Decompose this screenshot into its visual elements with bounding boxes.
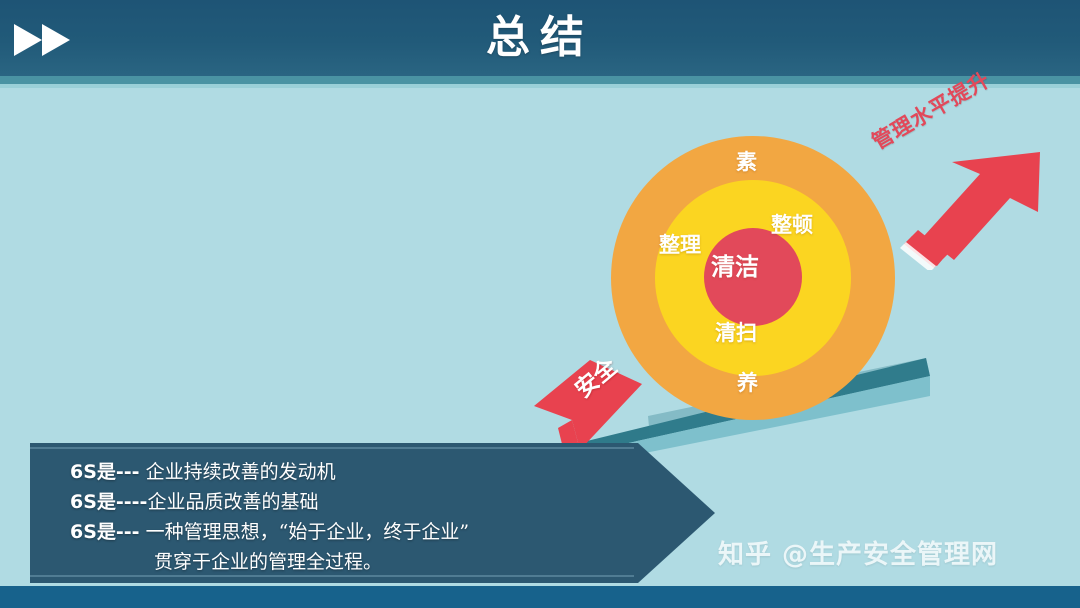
ring-label-qingjie: 清洁: [711, 247, 759, 282]
banner-line-1: 6S是--- 企业持续改善的发动机: [70, 457, 670, 487]
banner-line-1-text: 企业持续改善的发动机: [140, 461, 336, 483]
banner-line-4-text: 贯穿于企业的管理全过程。: [154, 551, 382, 573]
banner-line-2-prefix: 6S是----: [70, 491, 147, 513]
banner-line-4: 贯穿于企业的管理全过程。: [70, 547, 670, 577]
ring-label-su: 素: [736, 146, 757, 176]
banner-line-2-text: 企业品质改善的基础: [147, 491, 318, 513]
ring-label-qingsao: 清扫: [715, 317, 757, 347]
banner-line-3-text: 一种管理思想，“始于企业，终于企业”: [140, 521, 469, 543]
ring-label-yang: 养: [737, 367, 758, 397]
banner-line-3: 6S是--- 一种管理思想，“始于企业，终于企业”: [70, 517, 670, 547]
banner-line-1-prefix: 6S是---: [70, 461, 140, 483]
banner-line-3-prefix: 6S是---: [70, 521, 140, 543]
watermark: 知乎 @生产安全管理网: [718, 534, 998, 571]
summary-banner-text: 6S是--- 企业持续改善的发动机 6S是----企业品质改善的基础 6S是--…: [70, 457, 670, 577]
header-accent-strip-light: [0, 84, 1080, 88]
footer-bar: [0, 586, 1080, 608]
ring-label-zhengli: 整理: [659, 229, 701, 259]
page-title: 总结: [0, 8, 1080, 68]
slide-canvas: 总结 素 整理 整顿 清洁 清扫 养 管理水平提升 安全 6S: [0, 0, 1080, 608]
ring-label-zhengdun: 整顿: [771, 209, 813, 239]
header-accent-strip: [0, 76, 1080, 84]
banner-line-2: 6S是----企业品质改善的基础: [70, 487, 670, 517]
improvement-arrow-icon: [890, 150, 1050, 270]
